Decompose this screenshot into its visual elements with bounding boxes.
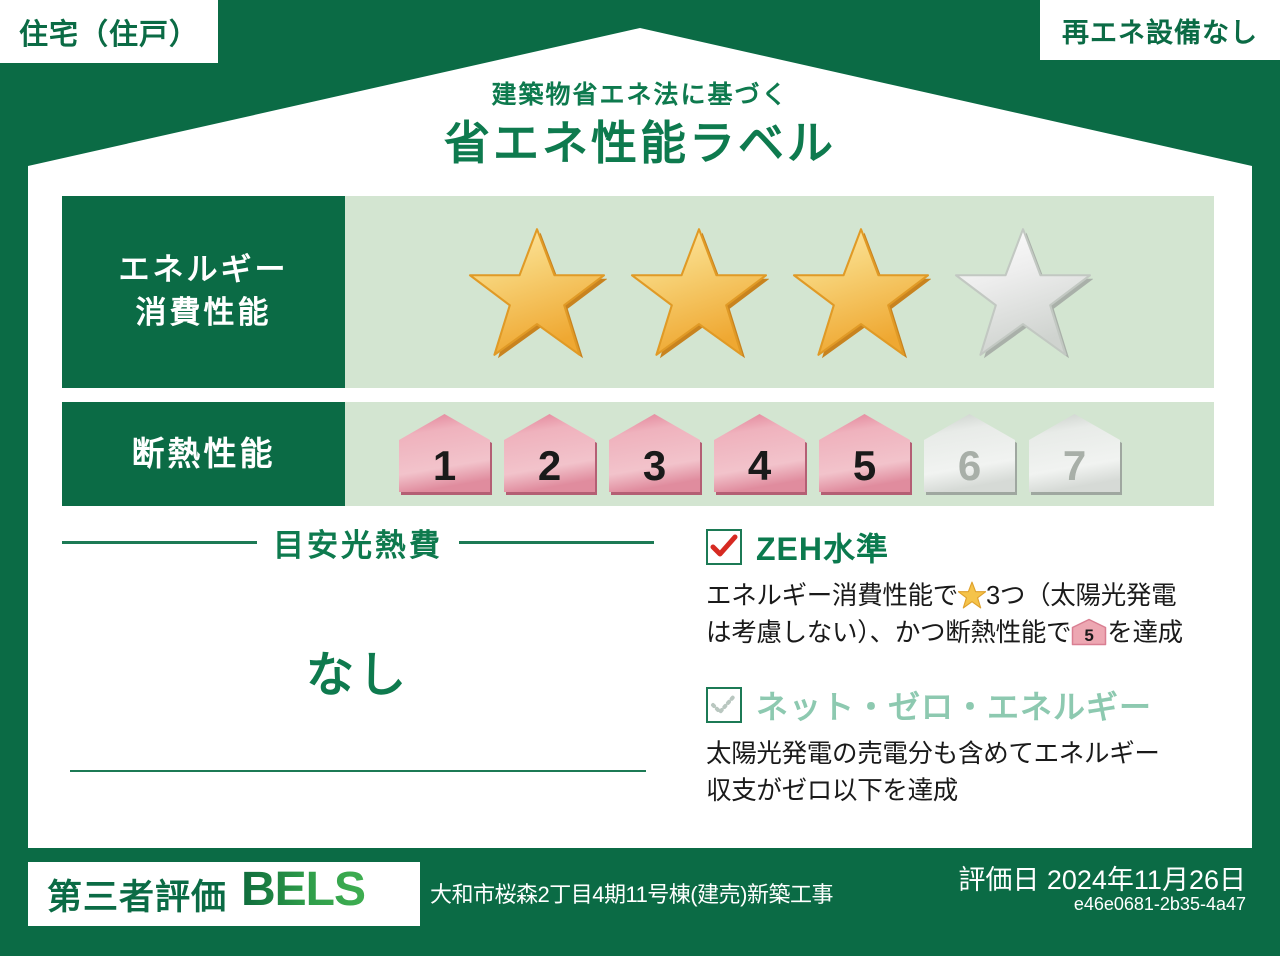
evaluation-date: 評価日 2024年11月26日 <box>958 858 1246 897</box>
insulation-level-6: 6 <box>918 410 1021 498</box>
utility-cost-title: 目安光熱費 <box>257 520 459 565</box>
page-title: 省エネ性能ラベル <box>0 114 1280 174</box>
evaluation-id: e46e0681-2b35-4a47 <box>1074 894 1246 915</box>
building-type-badge: 住宅（住戸） <box>0 0 218 63</box>
zeh-checkbox[interactable] <box>706 529 742 565</box>
net-zero-description: 太陽光発電の売電分も含めてエネルギー 収支がゼロ以下を達成 <box>706 736 1218 809</box>
star-rating <box>345 196 1214 388</box>
insulation-level-2: 2 <box>498 410 601 498</box>
net-zero-desc-line1: 太陽光発電の売電分も含めてエネルギー <box>706 740 1160 768</box>
star-icon-filled <box>791 225 931 359</box>
criterion-zeh-header: ZEH水準 <box>706 524 1218 570</box>
insulation-level-7: 7 <box>1023 410 1126 498</box>
star-icon <box>958 581 986 609</box>
dotted-check-icon <box>709 691 739 719</box>
insulation-level-value: 6 <box>958 442 981 489</box>
insulation-badge-inline: 5 <box>1071 618 1107 657</box>
energy-performance-label: エネルギー 消費性能 <box>62 196 345 388</box>
insulation-performance-label: 断熱性能 <box>62 402 345 506</box>
footer: 第三者評価 BELS 大和市桜森2丁目4期11号棟(建売)新築工事 評価日 20… <box>0 848 1280 956</box>
bels-logo: BELS <box>241 863 401 925</box>
insulation-level-4: 4 <box>708 410 811 498</box>
utility-cost-header: 目安光熱費 <box>62 520 654 565</box>
insulation-badge-inline-value: 5 <box>1085 626 1094 645</box>
zeh-desc-part3: は考慮しない）、かつ断熱性能で <box>706 619 1071 647</box>
label-subtitle: 建築物省エネ法に基づく <box>0 80 1280 110</box>
insulation-level-5: 5 <box>813 410 916 498</box>
zeh-desc-part1: エネルギー消費性能で <box>706 582 958 610</box>
project-name: 大和市桜森2丁目4期11号棟(建売)新築工事 <box>430 877 833 909</box>
label-heading: 建築物省エネ法に基づく 省エネ性能ラベル <box>0 80 1280 174</box>
renewable-equipment-badge: 再エネ設備なし <box>1040 0 1280 60</box>
net-zero-title: ネット・ゼロ・エネルギー <box>756 682 1152 728</box>
criterion-zeh: ZEH水準 エネルギー消費性能で3つ（太陽光発電は考慮しない）、かつ断熱性能で5… <box>706 524 1218 656</box>
energy-performance-row: エネルギー 消費性能 <box>62 196 1214 388</box>
zeh-description: エネルギー消費性能で3つ（太陽光発電は考慮しない）、かつ断熱性能で5を達成 <box>706 578 1218 656</box>
divider-right <box>459 541 654 544</box>
utility-cost-value: なし <box>62 635 654 705</box>
zeh-title: ZEH水準 <box>756 524 889 570</box>
insulation-level-scale: 1234567 <box>345 402 1214 506</box>
check-icon <box>709 533 739 561</box>
criteria-section: ZEH水準 エネルギー消費性能で3つ（太陽光発電は考慮しない）、かつ断熱性能で5… <box>706 524 1218 810</box>
insulation-level-value: 7 <box>1063 442 1086 489</box>
net-zero-checkbox[interactable] <box>706 687 742 723</box>
zeh-desc-part4: を達成 <box>1107 619 1183 647</box>
divider-left <box>62 541 257 544</box>
insulation-level-3: 3 <box>603 410 706 498</box>
bels-logo-text: BELS <box>241 863 365 915</box>
third-party-evaluation-label: 第三者評価 <box>47 869 227 920</box>
divider-bottom <box>70 770 646 772</box>
criterion-net-zero-header: ネット・ゼロ・エネルギー <box>706 682 1218 728</box>
insulation-level-value: 3 <box>643 442 666 489</box>
star-icon-filled <box>467 225 607 359</box>
bels-badge: 第三者評価 BELS <box>28 862 420 926</box>
energy-label-line2: 消費性能 <box>136 292 272 335</box>
star-icon-empty <box>953 225 1093 359</box>
zeh-desc-part2: 3つ（太陽光発電 <box>986 582 1176 610</box>
criterion-net-zero-energy: ネット・ゼロ・エネルギー 太陽光発電の売電分も含めてエネルギー 収支がゼロ以下を… <box>706 682 1218 809</box>
insulation-level-value: 1 <box>433 442 456 489</box>
net-zero-desc-line2: 収支がゼロ以下を達成 <box>706 777 958 805</box>
energy-label-line1: エネルギー <box>119 249 289 292</box>
utility-cost-section: 目安光熱費 なし <box>62 520 654 790</box>
insulation-level-value: 4 <box>748 442 772 489</box>
insulation-level-value: 5 <box>853 442 876 489</box>
insulation-level-1: 1 <box>393 410 496 498</box>
insulation-performance-row: 断熱性能 1234567 <box>62 402 1214 506</box>
insulation-level-value: 2 <box>538 442 561 489</box>
star-icon-filled <box>629 225 769 359</box>
